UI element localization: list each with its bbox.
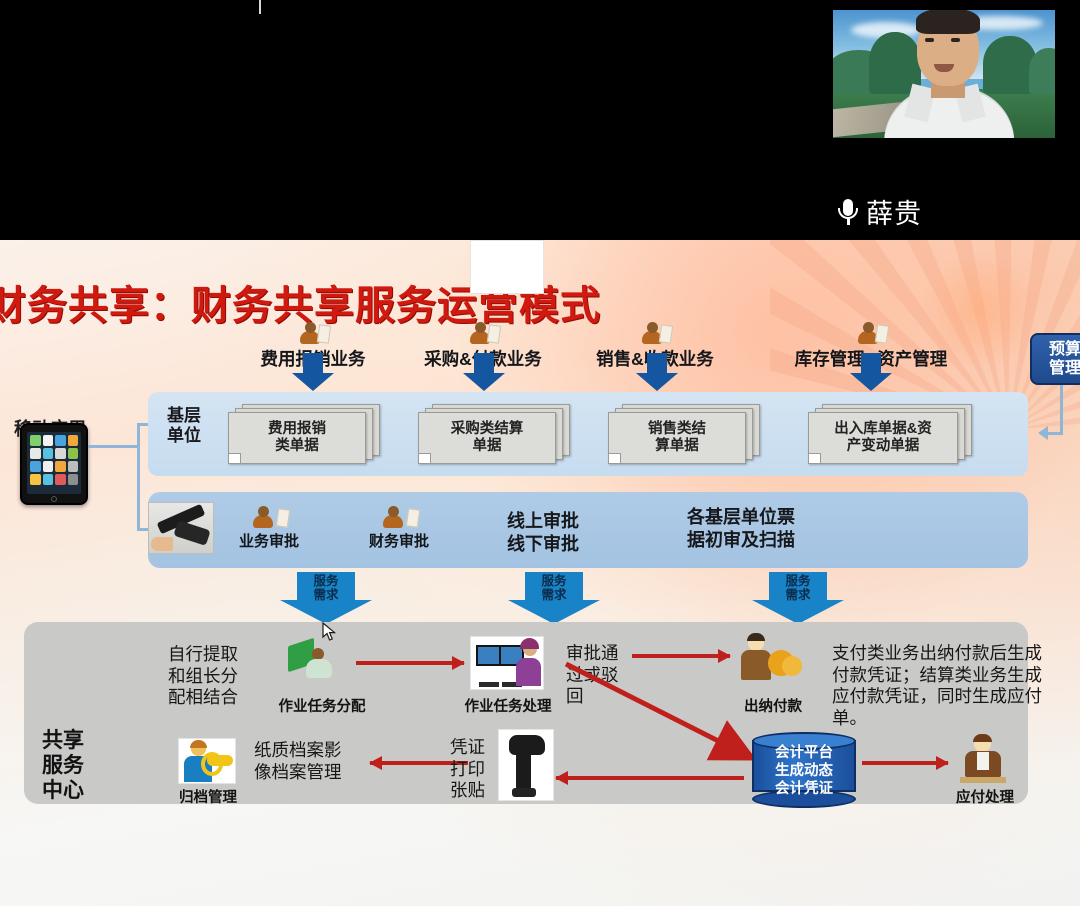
document-stack: 采购类结算 单据 — [418, 404, 570, 462]
video-background-hill — [1029, 48, 1055, 94]
business-person-icon — [638, 318, 672, 344]
connector-line — [1060, 385, 1063, 435]
microphone-icon — [836, 197, 860, 227]
connector-line — [1046, 432, 1063, 435]
business-person-icon — [466, 318, 500, 344]
approval-item-label: 业务审批 — [226, 530, 312, 551]
service-demand-arrow: 服务 需求 — [752, 572, 844, 624]
connector-line — [88, 445, 140, 448]
document-stack: 费用报销 类单据 — [228, 404, 380, 462]
payable-caption: 应付处理 — [938, 786, 1032, 807]
payable-clerk-icon — [958, 735, 1008, 783]
document-stack: 销售类结 算单据 — [608, 404, 760, 462]
handheld-scanner-photo — [148, 502, 214, 554]
voucher-generation-note: 支付类业务出纳付款后生成 付款凭证；结算类业务生成 应付款凭证，同时生成应付 单… — [832, 643, 1048, 730]
approver-person-icon — [249, 502, 289, 528]
service-demand-arrow: 服务 需求 — [508, 572, 600, 624]
flow-arrow-red — [862, 758, 948, 768]
tablet-device-icon — [20, 423, 88, 505]
barcode-scanner-icon — [498, 729, 554, 801]
shared-service-center-label: 共享 服务 中心 — [34, 728, 92, 804]
approval-item: 财务审批 — [356, 502, 442, 551]
document-stack: 出入库单据&资 产变动单据 — [808, 404, 968, 462]
task-assignment-icon — [288, 640, 340, 684]
participant-eye — [925, 38, 934, 42]
archive-caption: 归档管理 — [168, 786, 248, 807]
approval-item-label: 财务审批 — [356, 530, 442, 551]
mouse-pointer-icon — [322, 622, 336, 642]
service-demand-arrow: 服务 需求 — [280, 572, 372, 624]
flow-arrow-red — [356, 658, 464, 668]
workstation-operator-icon — [470, 240, 544, 294]
business-person-icon — [854, 318, 888, 344]
budget-management-box: 预算 管理 — [1030, 333, 1080, 385]
participant-video-tile[interactable] — [833, 10, 1055, 138]
grassroots-unit-band: 基层 单位 费用报销 类单据 采购类结算 单据 销售类结 算单据 — [148, 392, 1028, 476]
initial-review-text: 各基层单位票 据初审及扫描 — [656, 506, 826, 551]
voucher-print-text: 凭证 打印 张贴 — [450, 737, 496, 802]
task-processing-caption: 作业任务处理 — [458, 695, 558, 716]
grassroots-unit-label: 基层 单位 — [162, 406, 206, 446]
video-conference-band: 薛贵 — [0, 0, 1080, 240]
archive-key-icon — [178, 738, 236, 784]
archive-text: 纸质档案影 像档案管理 — [254, 740, 374, 783]
participant-eye — [951, 38, 960, 42]
approval-band: 业务审批 财务审批 线上审批 线下审批 各基层单位票 据初审及扫描 — [148, 492, 1028, 568]
accounting-platform-db: 会计平台 生成动态 会计凭证 — [752, 732, 856, 800]
task-assignment-caption: 作业任务分配 — [272, 695, 372, 716]
text-caret — [259, 0, 261, 14]
workstation-operator-icon-group — [470, 636, 544, 690]
connector-line — [137, 445, 140, 530]
self-pickup-text: 自行提取 和组长分 配相结合 — [168, 644, 278, 709]
approver-person-icon — [379, 502, 419, 528]
connector-arrow-head — [1038, 426, 1048, 440]
presentation-slide: 财务共享：财务共享服务运营模式 移动应用 费用报销业务 采购&付款业务 销售& — [0, 240, 1080, 906]
flow-arrow-red-diagonal — [560, 652, 760, 782]
active-speaker-label: 薛贵 — [836, 192, 922, 231]
approval-mode-text: 线上审批 线下审批 — [478, 510, 608, 555]
speaker-name: 薛贵 — [866, 192, 922, 231]
participant-hair — [916, 10, 980, 34]
approval-item: 业务审批 — [226, 502, 312, 551]
business-person-icon — [296, 318, 330, 344]
